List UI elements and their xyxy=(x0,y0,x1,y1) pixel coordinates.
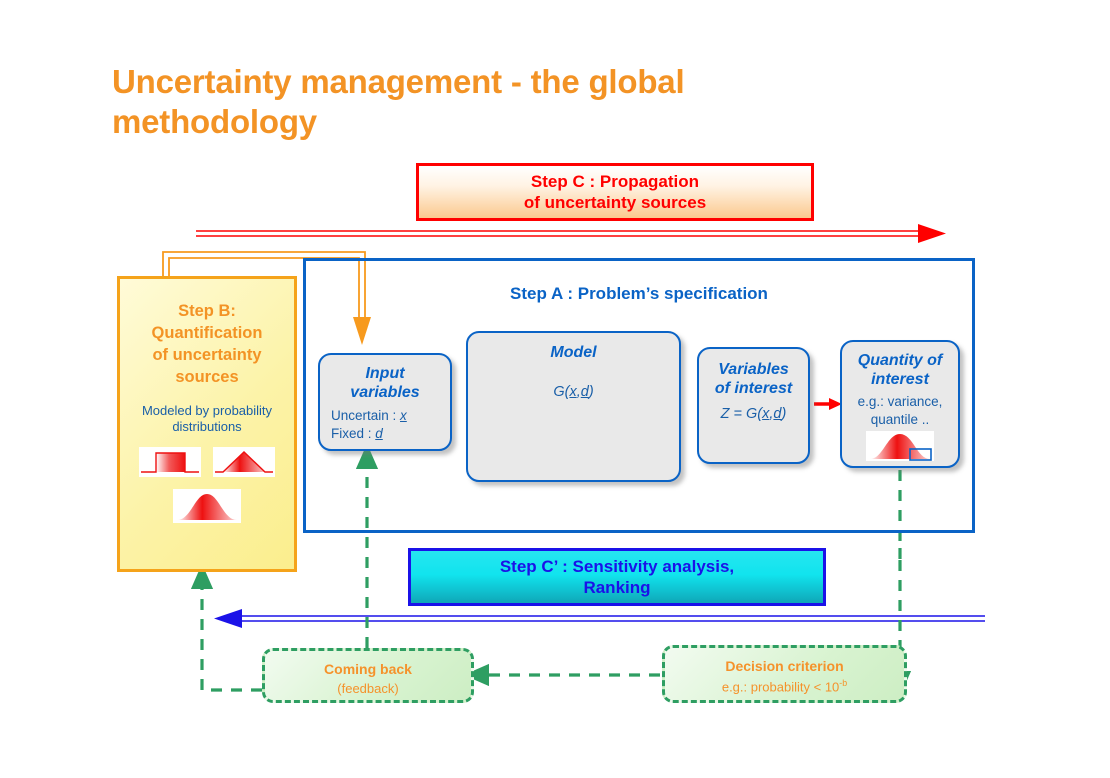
gaussian-distribution-icon xyxy=(173,489,241,523)
step-c-prime-line1: Step C’ : Sensitivity analysis, xyxy=(500,556,734,577)
input-variables-body: Uncertain : x Fixed : d xyxy=(320,407,450,442)
step-b-box[interactable]: Step B: Quantification of uncertainty so… xyxy=(117,276,297,572)
model-formula-prefix: G( xyxy=(553,384,569,400)
slide-canvas: Uncertainty management - the global meth… xyxy=(0,0,1110,778)
input-variables-header-line2: variables xyxy=(320,383,450,402)
input-variables-row1-value: x xyxy=(400,408,407,423)
variables-of-interest-header-line2: of interest xyxy=(699,379,808,398)
model-formula: G(x,d) xyxy=(468,384,679,400)
variables-formula-suffix: ) xyxy=(782,406,787,422)
variables-of-interest-header-line1: Variables xyxy=(699,360,808,379)
input-variables-node[interactable]: Input variables Uncertain : x Fixed : d xyxy=(318,353,452,451)
variables-formula-prefix: Z = G( xyxy=(721,406,763,422)
red-right-arrow xyxy=(196,224,946,243)
quantity-of-interest-header-line1: Quantity of xyxy=(842,351,958,370)
decision-criterion-subtitle-text: e.g.: probability < 10 xyxy=(722,679,839,694)
input-variables-row2-label: Fixed : xyxy=(331,426,375,441)
quantity-of-interest-body: e.g.: variance, quantile .. xyxy=(842,393,958,428)
gaussian-quantile-icon xyxy=(866,431,934,461)
variables-of-interest-header: Variables of interest xyxy=(699,360,808,398)
model-formula-var2: d xyxy=(581,384,589,400)
distribution-thumbnails-row-2 xyxy=(120,489,294,523)
input-variables-row1-label: Uncertain : xyxy=(331,408,400,423)
input-variables-row2: Fixed : d xyxy=(331,425,450,442)
coming-back-subtitle: (feedback) xyxy=(265,681,471,696)
decision-criterion-title: Decision criterion xyxy=(665,658,904,674)
quantity-of-interest-header-line2: interest xyxy=(842,370,958,389)
step-b-subtitle-line2: distributions xyxy=(120,419,294,435)
input-variables-row1: Uncertain : x xyxy=(331,407,450,424)
coming-back-box[interactable]: Coming back (feedback) xyxy=(262,648,474,703)
model-formula-var1: x xyxy=(569,384,576,400)
step-b-title: Step B: Quantification of uncertainty so… xyxy=(120,301,294,389)
decision-criterion-subtitle: e.g.: probability < 10-b xyxy=(665,678,904,694)
step-b-title-line1: Step B: xyxy=(120,301,294,323)
uniform-distribution-icon xyxy=(139,447,201,477)
step-b-title-line3: of uncertainty xyxy=(120,345,294,367)
input-variables-row2-value: d xyxy=(375,426,383,441)
step-a-title: Step A : Problem’s specification xyxy=(303,284,975,304)
distribution-thumbnails-row-1 xyxy=(120,447,294,477)
step-b-title-line2: Quantification xyxy=(120,323,294,345)
model-header: Model xyxy=(468,343,679,362)
model-node[interactable]: Model G(x,d) xyxy=(466,331,681,482)
input-variables-header: Input variables xyxy=(320,364,450,402)
variables-formula-var2: d xyxy=(773,406,781,422)
step-c-banner[interactable]: Step C : Propagation of uncertainty sour… xyxy=(416,163,814,221)
step-c-prime-banner[interactable]: Step C’ : Sensitivity analysis, Ranking xyxy=(408,548,826,606)
step-c-line1: Step C : Propagation xyxy=(524,171,706,192)
input-variables-header-line1: Input xyxy=(320,364,450,383)
coming-back-title: Coming back xyxy=(265,661,471,677)
quantity-of-interest-body-line1: e.g.: variance, xyxy=(842,393,958,410)
step-c-prime-line2: Ranking xyxy=(500,577,734,598)
step-c-line2: of uncertainty sources xyxy=(524,192,706,213)
quantity-of-interest-node[interactable]: Quantity of interest e.g.: variance, qua… xyxy=(840,340,960,468)
triangular-distribution-icon xyxy=(213,447,275,477)
page-title: Uncertainty management - the global meth… xyxy=(112,62,872,143)
step-b-subtitle-line1: Modeled by probability xyxy=(120,403,294,419)
variables-of-interest-formula: Z = G(x,d) xyxy=(699,406,808,422)
decision-criterion-exponent: -b xyxy=(839,678,847,688)
step-b-subtitle: Modeled by probability distributions xyxy=(120,403,294,436)
blue-left-arrow xyxy=(214,609,985,628)
quantity-of-interest-body-line2: quantile .. xyxy=(842,411,958,428)
model-formula-suffix: ) xyxy=(589,384,594,400)
variables-of-interest-node[interactable]: Variables of interest Z = G(x,d) xyxy=(697,347,810,464)
step-b-title-line4: sources xyxy=(120,367,294,389)
quantity-of-interest-header: Quantity of interest xyxy=(842,351,958,389)
quantity-thumbnail-wrap xyxy=(842,431,958,461)
decision-criterion-box[interactable]: Decision criterion e.g.: probability < 1… xyxy=(662,645,907,703)
